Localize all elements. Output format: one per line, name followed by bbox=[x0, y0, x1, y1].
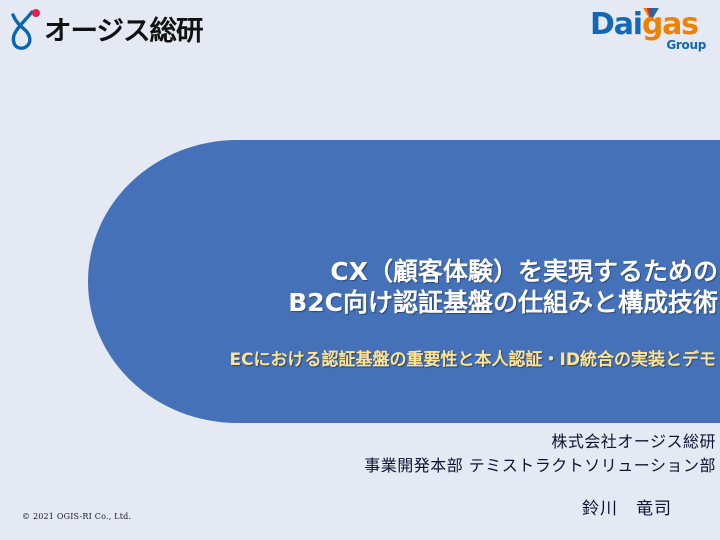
presenter-organisation: 株式会社オージス総研 事業開発本部 テミストラクトソリューション部 bbox=[0, 430, 716, 478]
daigas-group-logo: Daigas Group bbox=[590, 6, 708, 54]
ogis-ri-wordmark: オージス総研 bbox=[44, 18, 203, 45]
ogis-ri-logo: オージス総研 bbox=[6, 6, 196, 56]
presenter-department: 事業開発本部 テミストラクトソリューション部 bbox=[0, 454, 716, 478]
copyright-notice: © 2021 OGIS-RI Co., Ltd. bbox=[22, 512, 131, 521]
daigas-wordmark: Daigas bbox=[590, 10, 698, 40]
presentation-slide: オージス総研 Daigas Group CX（顧客体験）を実現するための B2C… bbox=[0, 0, 720, 540]
daigas-word-part1: Dai bbox=[590, 7, 642, 42]
presenter-company: 株式会社オージス総研 bbox=[0, 430, 716, 454]
daigas-group-label: Group bbox=[666, 39, 706, 51]
daigas-word-part2: gas bbox=[642, 7, 698, 42]
title-line-2: B2C向け認証基盤の仕組みと構成技術 bbox=[0, 287, 718, 318]
title-line-1: CX（顧客体験）を実現するための bbox=[0, 256, 718, 287]
slide-title: CX（顧客体験）を実現するための B2C向け認証基盤の仕組みと構成技術 bbox=[0, 256, 718, 318]
slide-subtitle: ECにおける認証基盤の重要性と本人認証・ID統合の実装とデモ bbox=[0, 349, 716, 371]
ogis-ri-symbol-icon bbox=[6, 8, 46, 54]
